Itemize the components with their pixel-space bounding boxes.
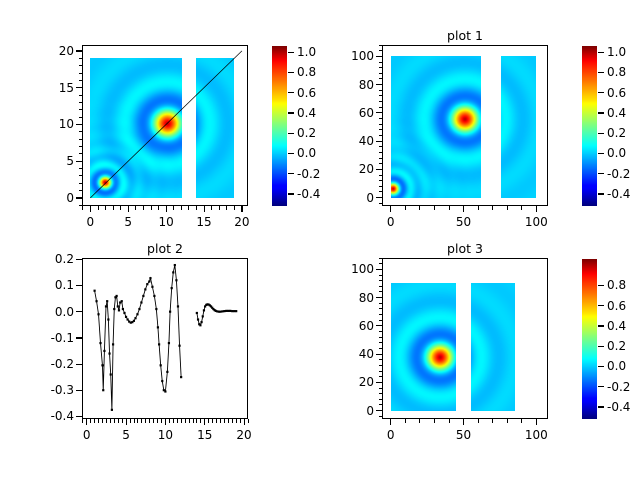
plot-bottom-right-colorbar-tick-label: -0.4 <box>607 401 630 413</box>
plot-bottom-right-ytick-minor <box>379 258 383 259</box>
plot-bottom-right-colorbar-tick-label: 0.4 <box>607 320 626 332</box>
plot-bottom-right-colorbar-tick <box>598 346 604 347</box>
plot-bottom-right-ytick-minor <box>379 320 383 321</box>
plot-bottom-right-xtick-minor <box>521 419 522 423</box>
plot-bottom-right-ytick-minor <box>379 348 383 349</box>
plot-bottom-right-ytick-minor <box>379 286 383 287</box>
plot-bottom-right-ytick-label: 60 <box>326 320 374 332</box>
plot-bottom-right-colorbar-tick <box>598 366 604 367</box>
plot-bottom-right-xtick-minor <box>390 419 391 423</box>
plot-bottom-right-ytick-minor <box>379 314 383 315</box>
plot-bottom-right-ytick-minor <box>379 337 383 338</box>
plot-bottom-right-ytick-minor <box>379 308 383 309</box>
plot-bottom-right-xtick-label: 100 <box>511 429 561 441</box>
plot-bottom-right-ytick-minor <box>379 280 383 281</box>
plot-bottom-right-title: plot 3 <box>382 243 548 256</box>
plot-bottom-right-ytick-minor <box>379 393 383 394</box>
plot-bottom-right-colorbar-tick <box>598 406 604 407</box>
plot-bottom-right-ytick-label: 40 <box>326 348 374 360</box>
plot-bottom-right-colorbar-tick <box>598 386 604 387</box>
plot-bottom-right-xtick-minor <box>449 419 450 423</box>
plot-bottom-right-ytick-minor <box>379 404 383 405</box>
plot-bottom-right-ytick-minor <box>379 376 383 377</box>
plot-bottom-right-image-patch <box>471 283 515 411</box>
plot-bottom-right-ytick-minor <box>379 297 383 298</box>
plot-bottom-right-ytick-label: 0 <box>326 405 374 417</box>
plot-bottom-right-colorbar-tick-label: 0.2 <box>607 340 626 352</box>
plot-bottom-right-ytick-minor <box>379 269 383 270</box>
plot-bottom-right-xtick-minor <box>492 419 493 423</box>
plot-bottom-right-colorbar-tick <box>598 325 604 326</box>
plot-bottom-right-xtick-label: 50 <box>439 429 489 441</box>
plot-3-heatmap: plot 30204060801000501000.80.60.40.20.0-… <box>0 0 640 480</box>
plot-bottom-right-colorbar-tick-label: 0.0 <box>607 360 626 372</box>
plot-bottom-right-ytick-minor <box>379 331 383 332</box>
plot-bottom-right-ytick-label: 80 <box>326 292 374 304</box>
plot-bottom-right-xtick-minor <box>478 419 479 423</box>
figure-canvas: 05101520051015201.00.80.60.40.20.0-0.2-0… <box>0 0 640 480</box>
plot-bottom-right-ytick-minor <box>379 263 383 264</box>
plot-bottom-right-xtick-minor <box>405 419 406 423</box>
plot-bottom-right-xtick-minor <box>419 419 420 423</box>
plot-bottom-right-ytick-minor <box>379 371 383 372</box>
plot-bottom-right-xtick-minor <box>536 419 537 423</box>
plot-bottom-right-image-patch <box>391 283 456 411</box>
plot-bottom-right-colorbar-tick-label: -0.2 <box>607 381 630 393</box>
plot-bottom-right-ytick-minor <box>379 275 383 276</box>
plot-bottom-right-ytick-minor <box>379 354 383 355</box>
plot-bottom-right-ytick-minor <box>379 325 383 326</box>
plot-bottom-right-ytick-label: 100 <box>326 263 374 275</box>
plot-bottom-right-ytick-minor <box>379 388 383 389</box>
plot-bottom-right-xtick-minor <box>463 419 464 423</box>
plot-bottom-right-ytick-minor <box>379 416 383 417</box>
plot-bottom-right-colorbar-tick <box>598 285 604 286</box>
plot-bottom-right-xtick-minor <box>507 419 508 423</box>
plot-bottom-right-xtick-minor <box>434 419 435 423</box>
plot-bottom-right-ytick-minor <box>379 359 383 360</box>
plot-bottom-right-ytick-minor <box>379 382 383 383</box>
plot-bottom-right-ytick-minor <box>379 399 383 400</box>
plot-bottom-right-colorbar-tick <box>598 305 604 306</box>
plot-bottom-right-ytick-minor <box>379 291 383 292</box>
plot-bottom-right-ytick-minor <box>379 342 383 343</box>
plot-bottom-right-ytick-minor <box>379 365 383 366</box>
plot-bottom-right-ytick-minor <box>379 303 383 304</box>
plot-bottom-right-colorbar-frame <box>582 259 597 419</box>
plot-bottom-right-colorbar-tick-label: 0.8 <box>607 279 626 291</box>
plot-bottom-right-colorbar-tick-label: 0.6 <box>607 300 626 312</box>
plot-bottom-right-xtick-label: 0 <box>366 429 416 441</box>
plot-bottom-right-ytick-minor <box>379 410 383 411</box>
plot-bottom-right-ytick-label: 20 <box>326 376 374 388</box>
